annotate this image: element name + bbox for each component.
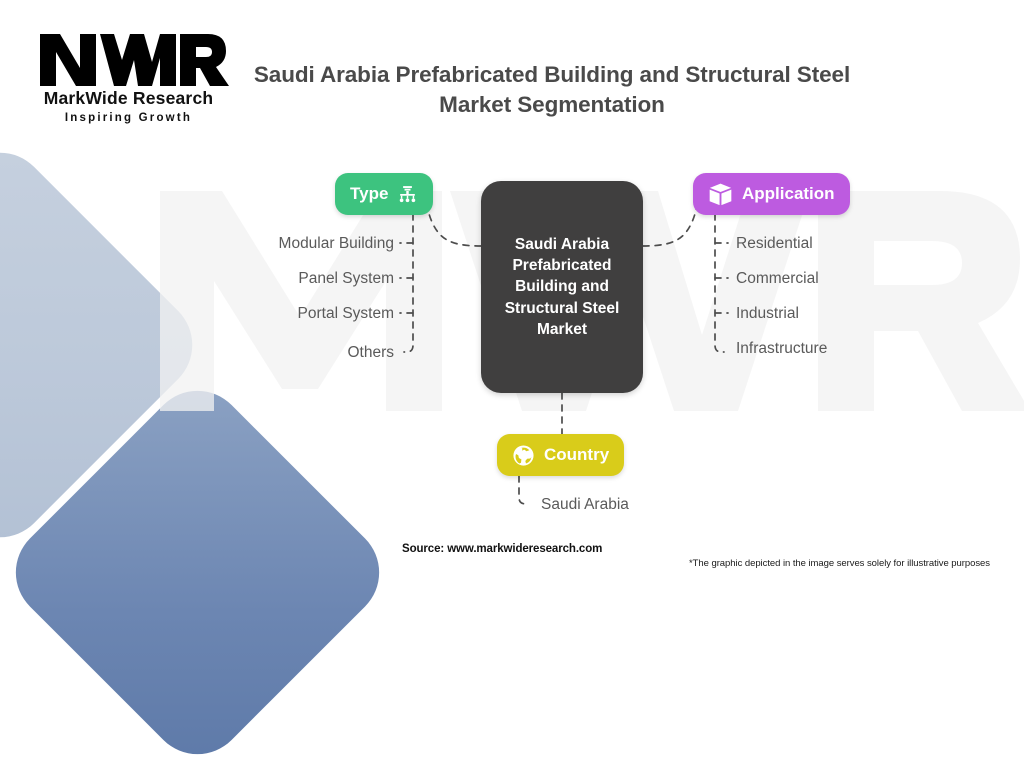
sitemap-icon — [397, 184, 418, 205]
brand-name: MarkWide Research — [26, 88, 231, 109]
leaf-label-application-2: Industrial — [736, 306, 799, 322]
branch-pill-type[interactable]: Type — [335, 173, 433, 215]
leaf-label-application-1: Commercial — [736, 271, 819, 287]
leaf-label-type-3: Others — [144, 345, 394, 361]
branch-pill-application[interactable]: Application — [693, 173, 850, 215]
branch-pill-application-label: Application — [742, 184, 835, 204]
branch-pill-country[interactable]: Country — [497, 434, 624, 476]
leaf-label-country-0: Saudi Arabia — [541, 497, 629, 513]
page-title: Saudi Arabia Prefabricated Building and … — [232, 60, 872, 121]
link-application-spine — [715, 214, 724, 352]
source-text: Source: www.markwideresearch.com — [402, 543, 602, 555]
leaf-label-application-3: Infrastructure — [736, 341, 827, 357]
leaf-label-type-0: Modular Building — [144, 236, 394, 252]
branch-pill-type-label: Type — [350, 184, 388, 204]
link-country-spine — [519, 476, 529, 504]
leaf-label-type-2: Portal System — [144, 306, 394, 322]
link-type-spine — [404, 214, 413, 352]
center-node-label: Saudi Arabia Prefabricated Building and … — [481, 234, 643, 341]
mwr-logo-icon — [26, 30, 231, 90]
leaf-label-application-0: Residential — [736, 236, 813, 252]
decorative-shape-dark — [0, 371, 399, 774]
leaf-label-type-1: Panel System — [144, 271, 394, 287]
globe-icon — [512, 444, 535, 467]
disclaimer-text: *The graphic depicted in the image serve… — [689, 558, 990, 569]
branch-pill-country-label: Country — [544, 445, 609, 465]
center-node: Saudi Arabia Prefabricated Building and … — [481, 181, 643, 393]
infographic-canvas: MarkWide Research Inspiring Growth Saudi… — [0, 0, 1024, 576]
brand-tagline: Inspiring Growth — [26, 112, 231, 124]
cube-box-icon — [708, 182, 733, 207]
brand-logo: MarkWide Research Inspiring Growth — [26, 30, 231, 122]
